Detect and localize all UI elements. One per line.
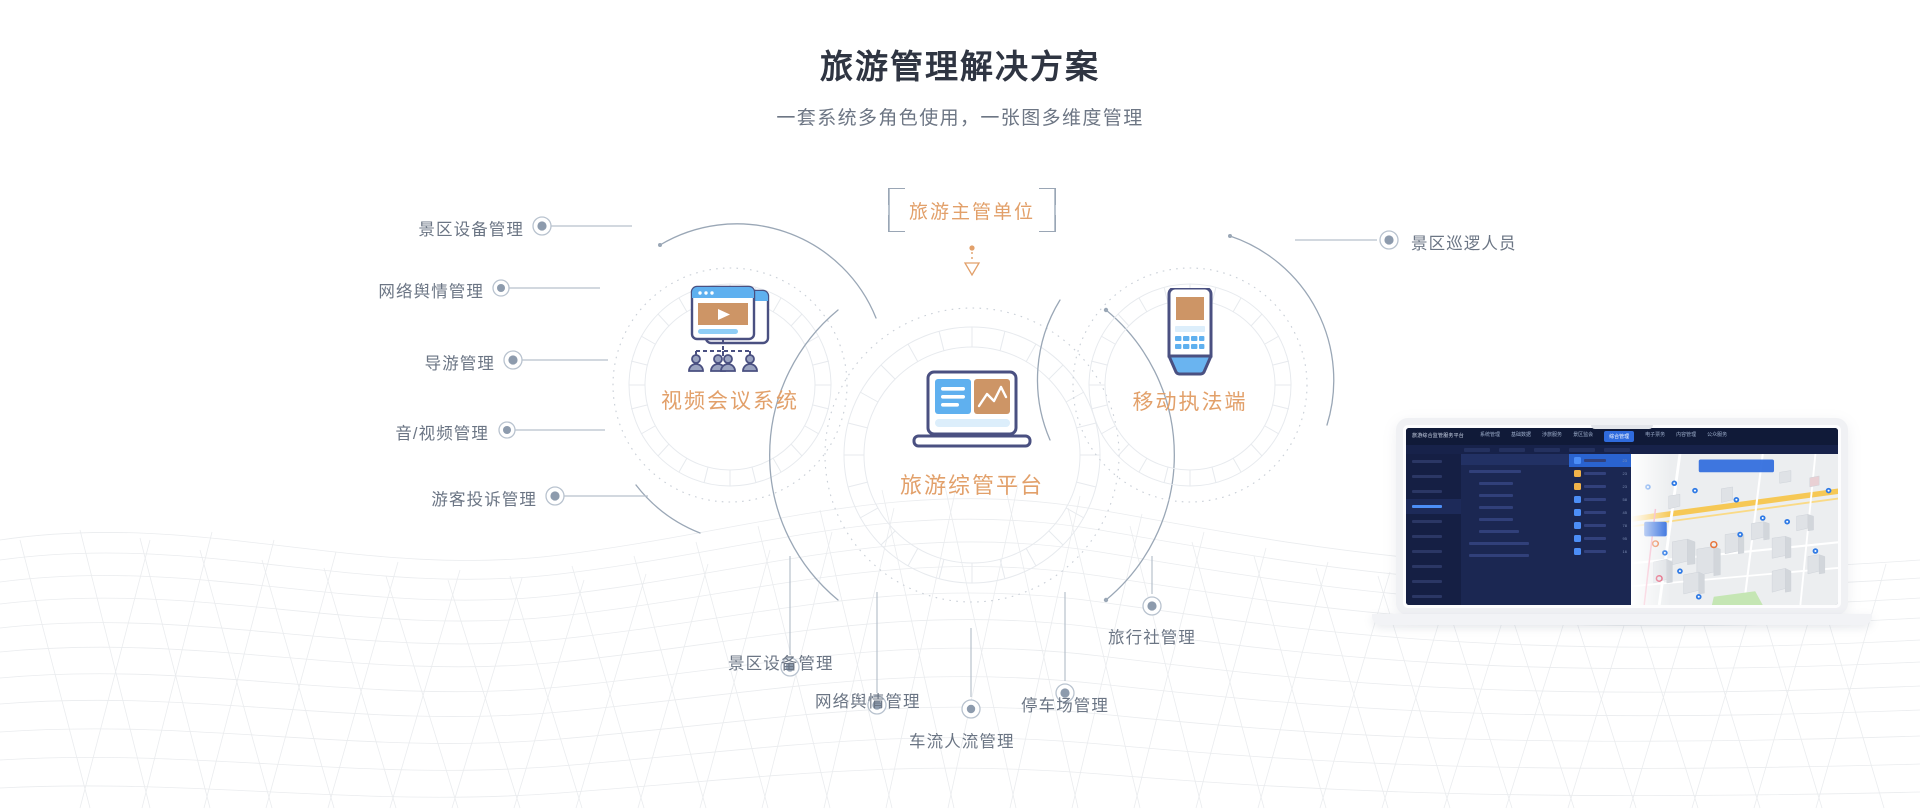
authority-badge[interactable]: 旅游主管单位 <box>888 188 1056 232</box>
cluster-title-mobile-enforcement: 移动执法端 <box>1100 386 1280 416</box>
cluster-title-video-conference: 视频会议系统 <box>630 385 830 415</box>
dashboard-map[interactable] <box>1631 454 1838 605</box>
resource-item[interactable]: 23 <box>1569 480 1631 493</box>
region-row[interactable] <box>1461 489 1569 501</box>
menu-item-7[interactable]: 公众服务 <box>1707 431 1727 442</box>
laptop-body: 旅游综合监管服务平台 系统管理 基础数据 涉旅服务 景区监会 综合管理 电子票务… <box>1396 418 1848 615</box>
infographic-canvas: 旅游管理解决方案 一套系统多角色使用，一张图多维度管理 <box>0 0 1920 810</box>
cluster-tourism-platform[interactable]: 旅游综管平台 <box>862 370 1082 550</box>
resource-item[interactable]: 23 <box>1569 467 1631 480</box>
region-row[interactable] <box>1461 501 1569 513</box>
tab-chip[interactable] <box>1569 448 1595 452</box>
bottom-node-label-3[interactable]: 停车场管理 <box>1021 692 1109 716</box>
sidebar-item[interactable] <box>1406 544 1461 559</box>
menu-item-0[interactable]: 系统管理 <box>1480 431 1500 442</box>
dashboard-resource-list[interactable]: 23 23 23 58 45 78 95 16 <box>1569 454 1631 605</box>
region-row[interactable] <box>1461 525 1569 537</box>
laptop-base <box>1372 614 1872 625</box>
right-node-label-0[interactable]: 景区巡逻人员 <box>1411 230 1517 254</box>
sidebar-item[interactable] <box>1406 574 1461 589</box>
cluster-mobile-enforcement[interactable]: 移动执法端 <box>1100 288 1280 458</box>
left-node-label-4[interactable]: 游客投诉管理 <box>431 486 537 510</box>
left-node-label-3[interactable]: 音/视频管理 <box>395 420 489 444</box>
right-node-dots <box>1380 231 1398 249</box>
sidebar-item-active[interactable] <box>1406 499 1461 514</box>
resource-item[interactable]: 58 <box>1569 493 1631 506</box>
sidebar-item[interactable] <box>1406 484 1461 499</box>
dashboard-region-panel[interactable] <box>1461 454 1569 605</box>
page-title: 旅游管理解决方案 <box>0 0 1920 87</box>
dashboard-tabbar[interactable] <box>1406 445 1838 454</box>
authority-badge-label: 旅游主管单位 <box>888 188 1056 232</box>
region-row[interactable] <box>1461 549 1569 561</box>
dashboard-sidebar[interactable] <box>1406 454 1461 605</box>
dashboard-logo: 旅游综合监管服务平台 <box>1406 433 1464 439</box>
sidebar-item[interactable] <box>1406 514 1461 529</box>
menu-item-4[interactable]: 综合管理 <box>1604 431 1634 442</box>
sidebar-item[interactable] <box>1406 469 1461 484</box>
tab-chip[interactable] <box>1499 448 1525 452</box>
menu-item-2[interactable]: 涉旅服务 <box>1542 431 1562 442</box>
mobile-terminal-icon <box>1159 288 1221 385</box>
laptop-dashboard-icon <box>911 370 1033 461</box>
sidebar-item[interactable] <box>1406 454 1461 469</box>
resource-item[interactable]: 23 <box>1569 454 1631 467</box>
menu-item-6[interactable]: 内容管理 <box>1676 431 1696 442</box>
video-conference-icon <box>682 285 778 378</box>
tab-chip[interactable] <box>1604 448 1630 452</box>
bottom-node-label-0[interactable]: 景区设备管理 <box>728 650 834 674</box>
resource-item[interactable]: 16 <box>1569 545 1631 558</box>
header: 旅游管理解决方案 一套系统多角色使用，一张图多维度管理 <box>0 0 1920 130</box>
left-node-label-0[interactable]: 景区设备管理 <box>418 216 524 240</box>
tab-chip[interactable] <box>1464 448 1490 452</box>
menu-item-3[interactable]: 景区监会 <box>1573 431 1593 442</box>
left-connectors <box>507 226 648 496</box>
page-subtitle: 一套系统多角色使用，一张图多维度管理 <box>0 87 1920 130</box>
bottom-node-label-1[interactable]: 网络舆情管理 <box>815 688 921 712</box>
tab-chip[interactable] <box>1534 448 1560 452</box>
left-node-label-1[interactable]: 网络舆情管理 <box>378 278 484 302</box>
cluster-video-conference[interactable]: 视频会议系统 <box>630 285 830 465</box>
left-node-label-2[interactable]: 导游管理 <box>425 350 495 374</box>
badge-flow-arrow <box>965 245 979 275</box>
bottom-node-label-4[interactable]: 旅行社管理 <box>1108 624 1196 648</box>
sidebar-item[interactable] <box>1406 559 1461 574</box>
dashboard-topbar: 旅游综合监管服务平台 系统管理 基础数据 涉旅服务 景区监会 综合管理 电子票务… <box>1406 428 1838 445</box>
dashboard-menu[interactable]: 系统管理 基础数据 涉旅服务 景区监会 综合管理 电子票务 内容管理 公众服务 <box>1480 431 1727 442</box>
tourism-dashboard-laptop[interactable]: 旅游综合监管服务平台 系统管理 基础数据 涉旅服务 景区监会 综合管理 电子票务… <box>1372 418 1872 638</box>
region-row[interactable] <box>1461 513 1569 525</box>
resource-item[interactable]: 78 <box>1569 519 1631 532</box>
cluster-title-tourism-platform: 旅游综管平台 <box>862 468 1082 500</box>
laptop-screen[interactable]: 旅游综合监管服务平台 系统管理 基础数据 涉旅服务 景区监会 综合管理 电子票务… <box>1406 428 1838 605</box>
sidebar-item[interactable] <box>1406 589 1461 604</box>
resource-item[interactable]: 95 <box>1569 532 1631 545</box>
laptop-camera-notch <box>1591 425 1653 429</box>
region-row[interactable] <box>1461 537 1569 549</box>
region-row[interactable] <box>1461 465 1569 477</box>
sidebar-item[interactable] <box>1406 529 1461 544</box>
menu-item-5[interactable]: 电子票务 <box>1645 431 1665 442</box>
menu-item-1[interactable]: 基础数据 <box>1511 431 1531 442</box>
left-node-dots <box>493 217 564 505</box>
bottom-connectors <box>790 556 1152 697</box>
bottom-node-label-2[interactable]: 车流人流管理 <box>909 728 1015 752</box>
map-left-fade <box>1631 454 1671 605</box>
region-row[interactable] <box>1461 477 1569 489</box>
region-panel-header <box>1461 454 1569 465</box>
resource-item[interactable]: 45 <box>1569 506 1631 519</box>
